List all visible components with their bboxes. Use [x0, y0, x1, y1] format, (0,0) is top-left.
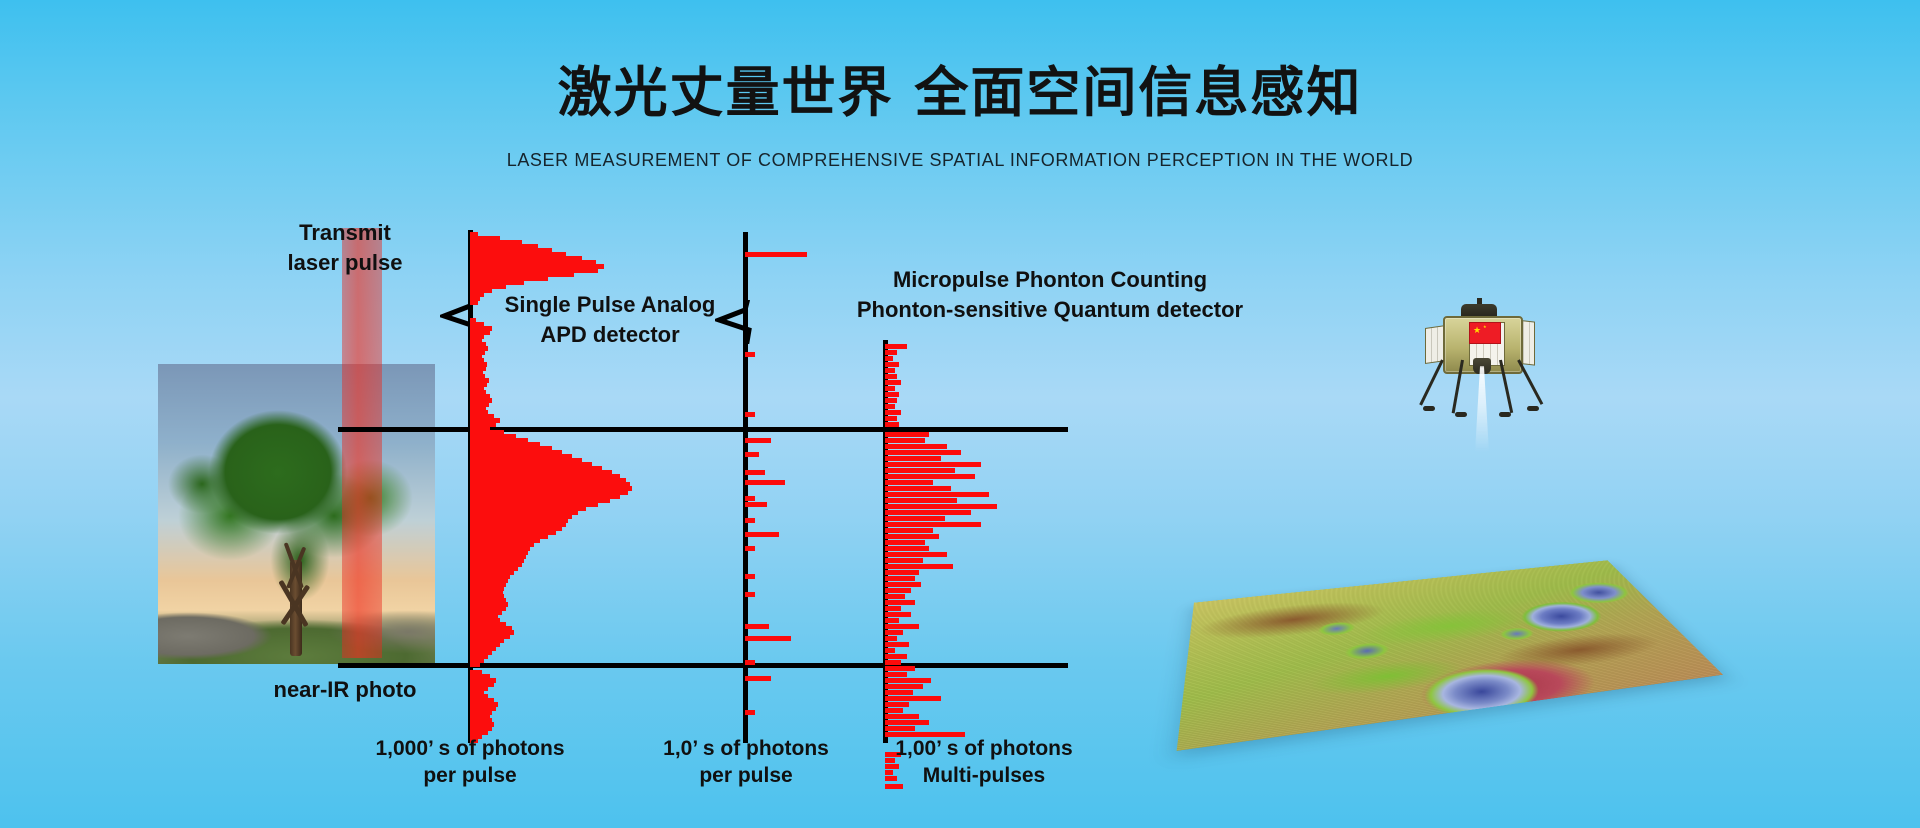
ground-reference-line	[338, 663, 1068, 668]
photon-spike	[885, 392, 899, 397]
photon-spike	[745, 636, 791, 641]
photon-spike	[885, 708, 903, 713]
photon-spike	[745, 592, 755, 597]
photon-spike	[745, 452, 759, 457]
photon-spike	[885, 356, 893, 361]
photon-spike	[885, 636, 897, 641]
photon-spike	[745, 532, 779, 537]
photon-spike	[885, 570, 919, 575]
photon-spike	[745, 660, 755, 665]
photon-spike	[885, 404, 895, 409]
page-subtitle: LASER MEASUREMENT OF COMPREHENSIVE SPATI…	[0, 150, 1920, 171]
photon-spike	[745, 252, 807, 257]
photon-spike	[885, 606, 901, 611]
photon-spike	[885, 432, 929, 437]
photon-spike	[885, 528, 933, 533]
photon-spike	[885, 516, 945, 521]
transmit-pulse-label-line1: Transmit	[225, 218, 465, 248]
photon-spike	[885, 486, 951, 491]
axis-caption-photon-line2: Multi-pulses	[868, 762, 1100, 789]
photon-spike	[885, 564, 953, 569]
photon-spike	[885, 350, 897, 355]
photon-spike	[885, 714, 919, 719]
photon-spike	[885, 474, 975, 479]
photon-spike	[885, 534, 939, 539]
china-flag-icon: ★ ★	[1469, 322, 1501, 344]
waveform-segment	[470, 662, 480, 667]
dem-surface	[1177, 560, 1723, 751]
flag-small-star-icon: ★	[1483, 325, 1487, 329]
photon-spike	[885, 410, 901, 415]
photon-spike	[745, 710, 755, 715]
terrain-visualization: ★ ★	[1190, 290, 1760, 710]
photon-spike	[885, 540, 925, 545]
photon-spike	[885, 696, 941, 701]
photon-spike	[885, 422, 899, 427]
engine-plume	[1475, 366, 1489, 452]
photon-spike	[885, 690, 913, 695]
photon-spike	[885, 552, 947, 557]
photon-spike	[885, 660, 901, 665]
photon-spike	[885, 522, 981, 527]
photon-spike	[885, 558, 923, 563]
waveform-segment	[470, 300, 478, 305]
photon-spike	[745, 438, 771, 443]
axis-caption-sparse-line2: per pulse	[630, 762, 862, 789]
photon-spike	[885, 678, 931, 683]
laser-beam-band	[342, 228, 382, 658]
lander-foot	[1499, 412, 1511, 417]
photon-spike	[745, 480, 785, 485]
lander-foot	[1527, 406, 1539, 411]
photon-spike	[885, 368, 895, 373]
transmit-pulse-label: Transmit laser pulse	[225, 218, 465, 277]
axis-break-sparse-icon	[715, 300, 779, 344]
photon-spike	[885, 492, 989, 497]
lander-foot	[1455, 412, 1467, 417]
photon-spike	[885, 624, 919, 629]
photon-spike	[745, 352, 755, 357]
lander-leg	[1517, 359, 1543, 405]
photon-spike	[885, 380, 901, 385]
photon-spike	[885, 588, 911, 593]
photon-spike	[885, 416, 897, 421]
photon-spike	[885, 618, 899, 623]
photon-spike	[745, 676, 771, 681]
transmit-pulse-label-line2: laser pulse	[225, 248, 465, 278]
photon-spike	[885, 344, 907, 349]
photon-spike	[745, 518, 755, 523]
photon-spike	[885, 386, 895, 391]
photon-spike	[745, 574, 755, 579]
photon-spike	[885, 666, 915, 671]
photon-spike	[885, 468, 955, 473]
photon-spike	[745, 624, 769, 629]
photon-spike	[885, 642, 909, 647]
photon-spike	[885, 612, 911, 617]
photon-spike	[885, 600, 915, 605]
photon-spike	[745, 470, 765, 475]
canopy-reference-line	[338, 427, 1068, 432]
photon-spike	[745, 546, 755, 551]
photon-spike	[885, 684, 923, 689]
lander-foot	[1423, 406, 1435, 411]
photon-spike	[745, 502, 767, 507]
photon-spike	[885, 438, 925, 443]
near-ir-photo-label: near-IR photo	[205, 675, 485, 705]
axis-caption-sparse: 1,0’ s of photons per pulse	[630, 735, 862, 790]
photon-spike	[885, 546, 929, 551]
poster-canvas: 激光丈量世界 全面空间信息感知 LASER MEASUREMENT OF COM…	[0, 0, 1920, 828]
photon-spike	[885, 462, 981, 467]
flag-star-icon: ★	[1473, 326, 1481, 335]
photon-spike	[885, 480, 933, 485]
photon-spike	[885, 398, 897, 403]
photon-spike	[885, 672, 907, 677]
axis-caption-analog: 1,000’ s of photons per pulse	[350, 735, 590, 790]
photon-spike	[885, 648, 895, 653]
photon-spike	[885, 450, 961, 455]
axis-caption-analog-line2: per pulse	[350, 762, 590, 789]
photon-spike	[885, 504, 997, 509]
photon-spike	[885, 498, 957, 503]
photon-spike	[885, 726, 915, 731]
photon-spike	[745, 412, 755, 417]
page-title: 激光丈量世界 全面空间信息感知	[0, 48, 1920, 127]
lunar-lander: ★ ★	[1425, 302, 1535, 414]
photon-spike	[885, 374, 897, 379]
photon-spike	[885, 630, 903, 635]
photon-spike	[885, 456, 941, 461]
photon-spike	[885, 444, 947, 449]
axis-caption-sparse-line1: 1,0’ s of photons	[630, 735, 862, 762]
photon-spike	[885, 654, 907, 659]
photon-spike	[885, 720, 929, 725]
photon-spike	[885, 510, 971, 515]
photon-spike	[885, 702, 909, 707]
photon-spike	[885, 576, 915, 581]
axis-caption-photon-line1: 1,00’ s of photons	[868, 735, 1100, 762]
photon-spike	[885, 582, 921, 587]
near-ir-photo	[158, 364, 435, 664]
photon-spike	[745, 496, 755, 501]
lander-leg	[1419, 359, 1444, 405]
photon-spike	[885, 594, 905, 599]
axis-caption-photon: 1,00’ s of photons Multi-pulses	[868, 735, 1100, 790]
axis-caption-analog-line1: 1,000’ s of photons	[350, 735, 590, 762]
photon-spike	[885, 362, 899, 367]
